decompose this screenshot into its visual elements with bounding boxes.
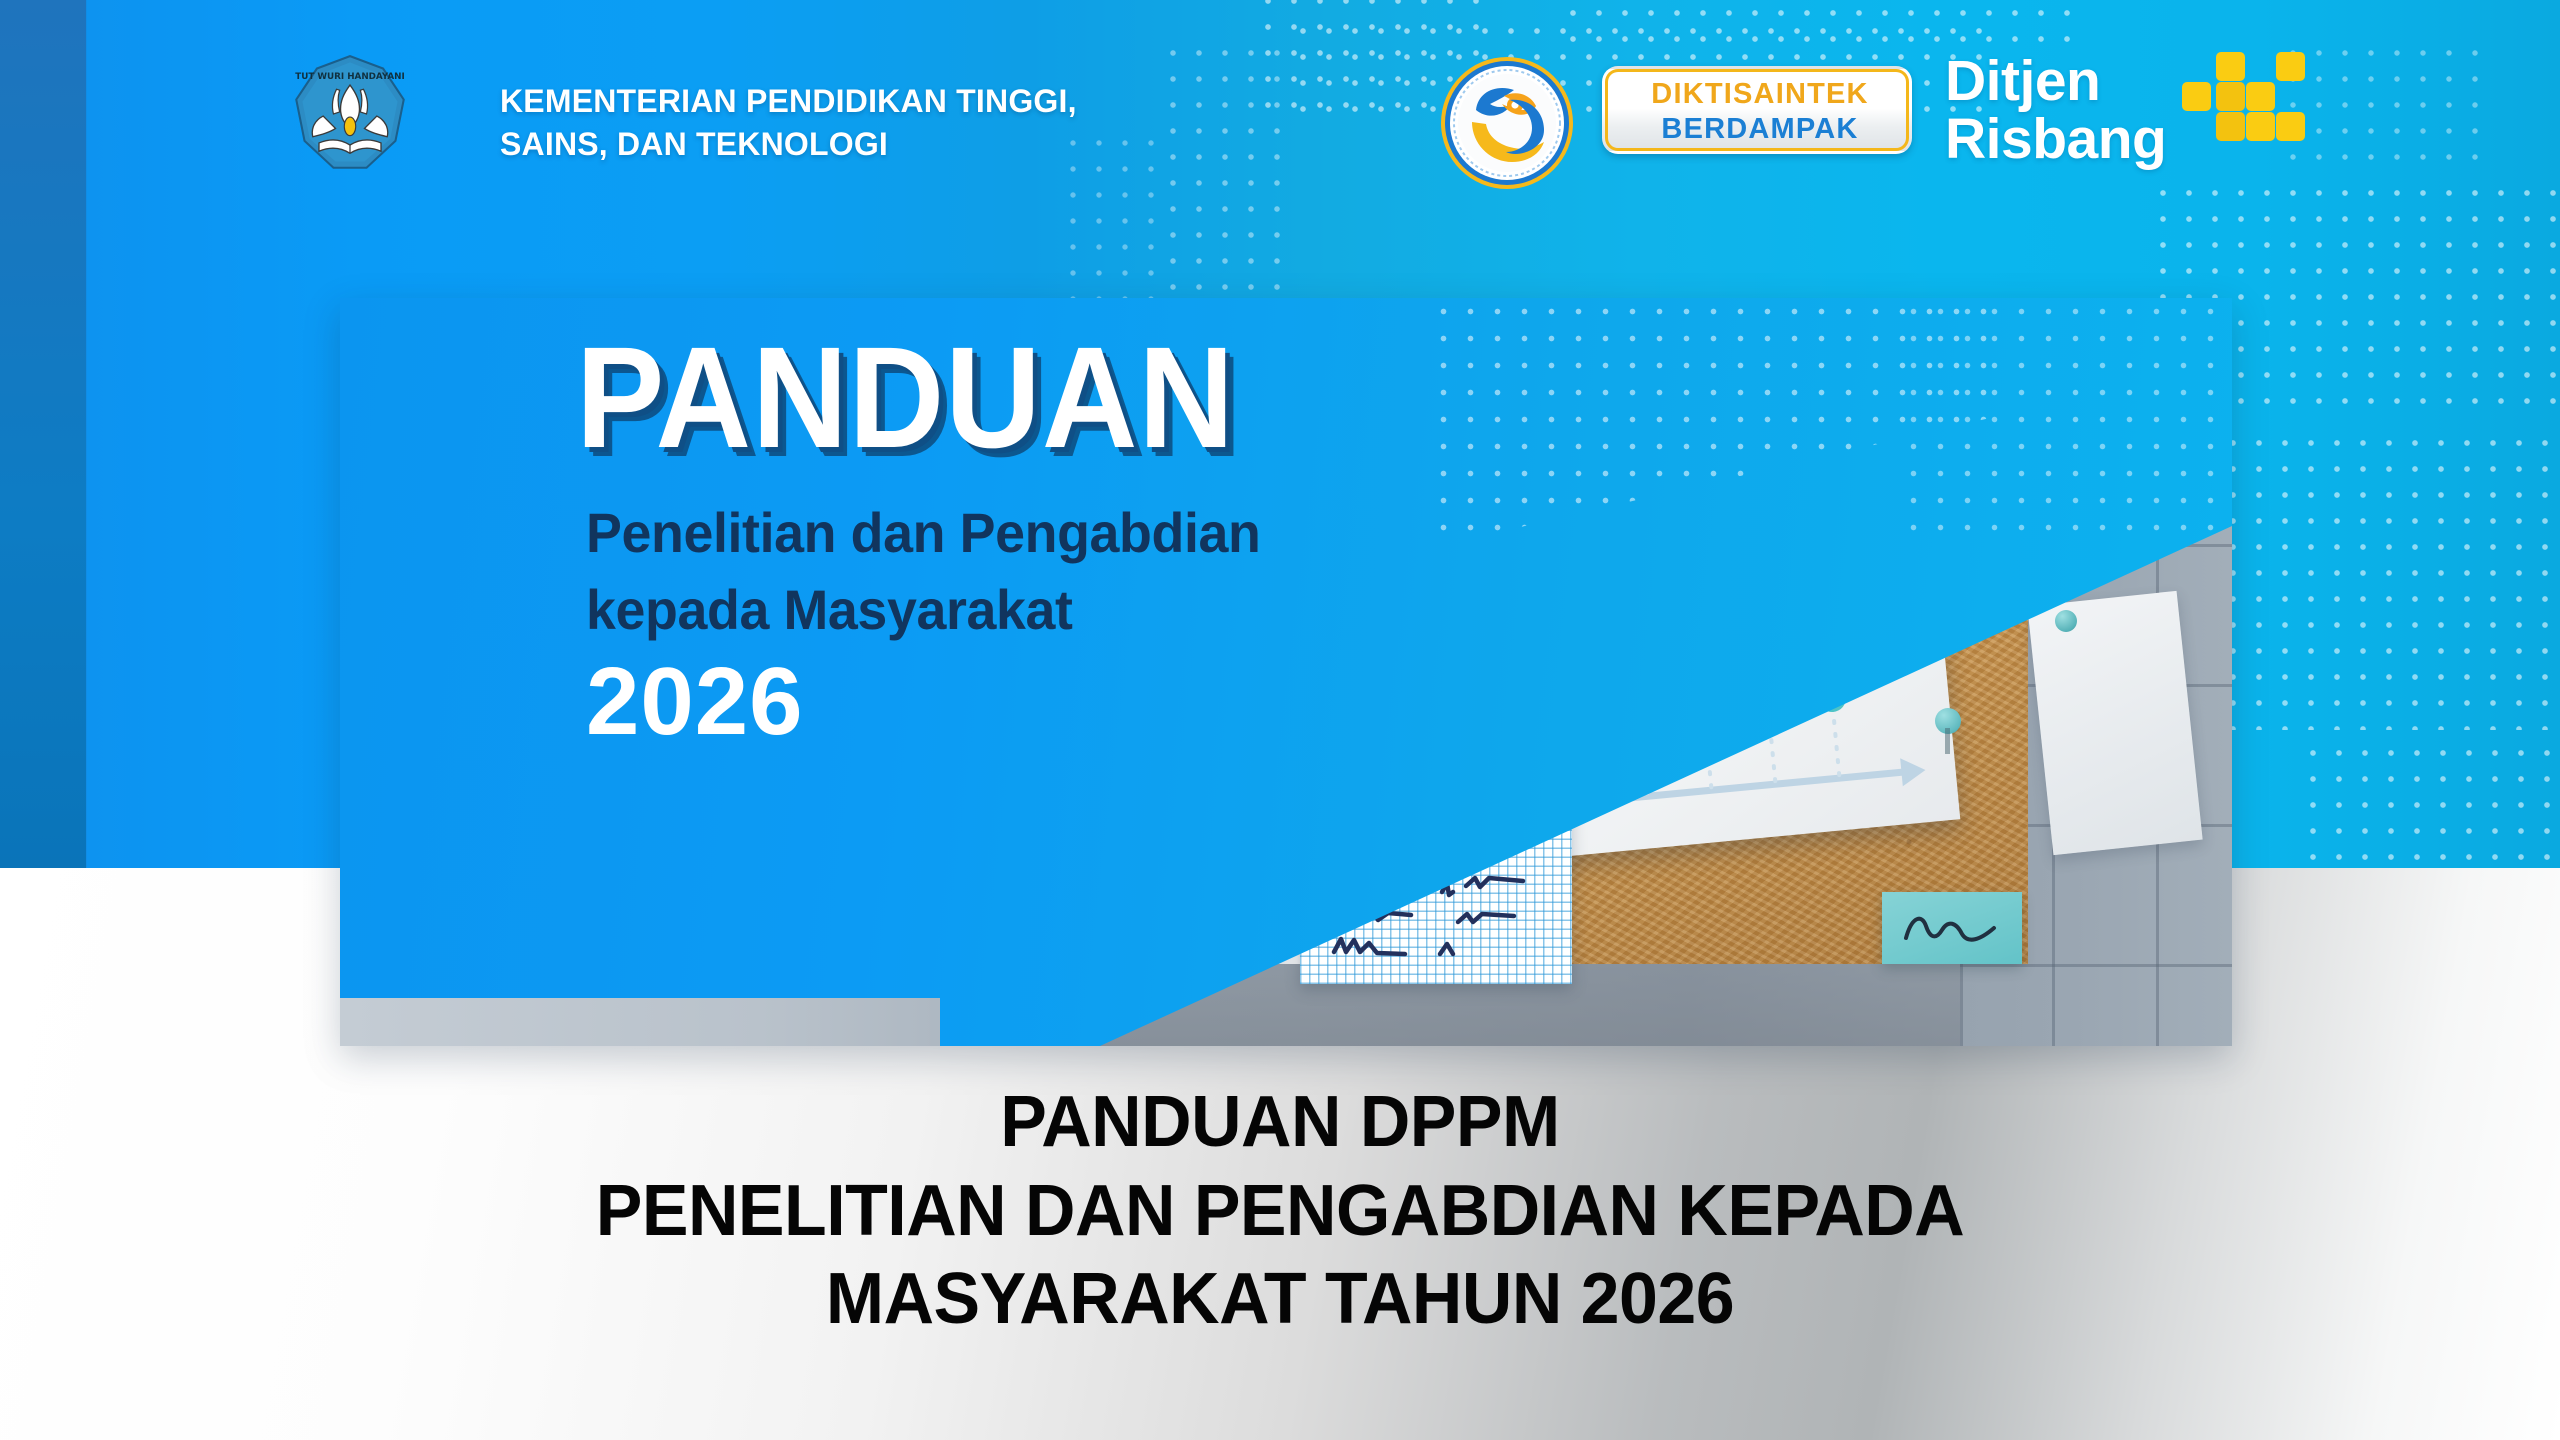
ministry-name-line-1: KEMENTERIAN PENDIDIKAN TINGGI, — [500, 80, 1240, 123]
ministry-name: KEMENTERIAN PENDIDIKAN TINGGI, SAINS, DA… — [500, 80, 1240, 165]
badge-label-diktisaintek: DIKTISAINTEK — [1605, 78, 1915, 111]
banner-year: 2026 — [586, 654, 804, 750]
panduan-banner-card: PANDUAN Penelitian dan Pengabdian kepada… — [340, 298, 2232, 1046]
badge-plate: DIKTISAINTEK BERDAMPAK — [1602, 66, 1912, 154]
diktisaintek-berdampak-badge: DIKTISAINTEK BERDAMPAK — [1432, 48, 1912, 172]
banner-title: PANDUAN — [576, 326, 1235, 470]
sticky-note — [1882, 892, 2022, 964]
banner-foot-strip — [340, 998, 940, 1046]
page-caption: PANDUAN DPPM PENELITIAN DAN PENGABDIAN K… — [38, 1078, 2521, 1344]
diktisaintek-circular-emblem-icon — [1432, 48, 1582, 198]
risbang-squares-icon — [2182, 52, 2310, 142]
pushpin-icon — [2052, 610, 2078, 650]
banner-subtitle-line-1: Penelitian dan Pengabdian — [586, 494, 1546, 571]
risbang-word-ditjen: Ditjen — [1945, 52, 2100, 111]
svg-text:TUT WURI HANDAYANI: TUT WURI HANDAYANI — [295, 72, 405, 82]
banner-subtitle: Penelitian dan Pengabdian kepada Masyara… — [586, 494, 1546, 649]
badge-label-berdampak: BERDAMPAK — [1605, 113, 1915, 146]
caption-line-3: MASYARAKAT TAHUN 2026 — [38, 1255, 2521, 1344]
halftone-dots-pattern — [1900, 298, 2232, 538]
risbang-word-risbang: Risbang — [1945, 110, 2166, 169]
ministry-name-line-2: SAINS, DAN TEKNOLOGI — [500, 123, 1240, 166]
header-accent-bar — [0, 0, 86, 868]
pushpin-teal-icon — [1932, 708, 1964, 756]
halftone-dots-pattern — [2300, 740, 2560, 868]
caption-line-1: PANDUAN DPPM — [38, 1078, 2521, 1167]
halftone-dots-pattern — [2220, 430, 2560, 730]
ditjen-risbang-logo: Ditjen Risbang — [1945, 48, 2345, 178]
caption-line-2: PENELITIAN DAN PENGABDIAN KEPADA — [38, 1167, 2521, 1256]
banner-subtitle-line-2: kepada Masyarakat — [586, 571, 1546, 648]
tut-wuri-handayani-emblem-icon: TUT WURI HANDAYANI — [288, 52, 412, 176]
